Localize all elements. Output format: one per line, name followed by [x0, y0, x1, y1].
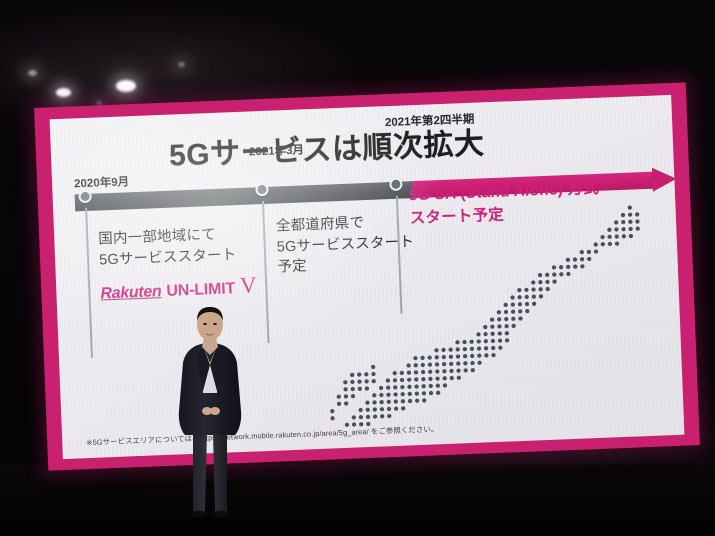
timeline-arrowhead-icon: [652, 167, 677, 192]
slide-canvas: 5Gサービスは順次拡大 2020年9月 2021年3月 2021年第2四半期 国…: [50, 95, 685, 459]
logo-brand-text: Rakuten: [100, 283, 162, 303]
rakuten-un-limit-logo: Rakuten UN-LIMIT V: [100, 274, 257, 304]
timeline-label-2020-09: 2020年9月: [74, 173, 130, 191]
logo-version-text: V: [239, 274, 257, 298]
logo-product-text: UN-LIMIT: [166, 280, 235, 301]
ceiling-light: [178, 62, 185, 67]
timeline-bar: [75, 194, 76, 211]
ceiling-light: [116, 80, 136, 92]
presenter-figure: [163, 307, 259, 536]
japan-dotted-map: [319, 201, 658, 439]
projection-screen: 5Gサービスは順次拡大 2020年9月 2021年3月 2021年第2四半期 国…: [34, 82, 700, 470]
timeline-label-2021-03: 2021年3月: [249, 141, 305, 159]
ceiling-light: [56, 88, 71, 97]
stage-scene: 5Gサービスは順次拡大 2020年9月 2021年3月 2021年第2四半期 国…: [0, 0, 715, 536]
footnote-text: ※5Gサービスエリアについては、https://network.mobile.r…: [86, 423, 438, 448]
milestone-block-september-2020: 国内一部地域にて 5Gサービススタート Rakuten UN-LIMIT V: [98, 223, 257, 303]
timeline-connector-line: [262, 201, 269, 343]
timeline-connector-line: [85, 208, 92, 358]
venue-floor: [0, 464, 715, 536]
ceiling-light: [28, 70, 37, 76]
